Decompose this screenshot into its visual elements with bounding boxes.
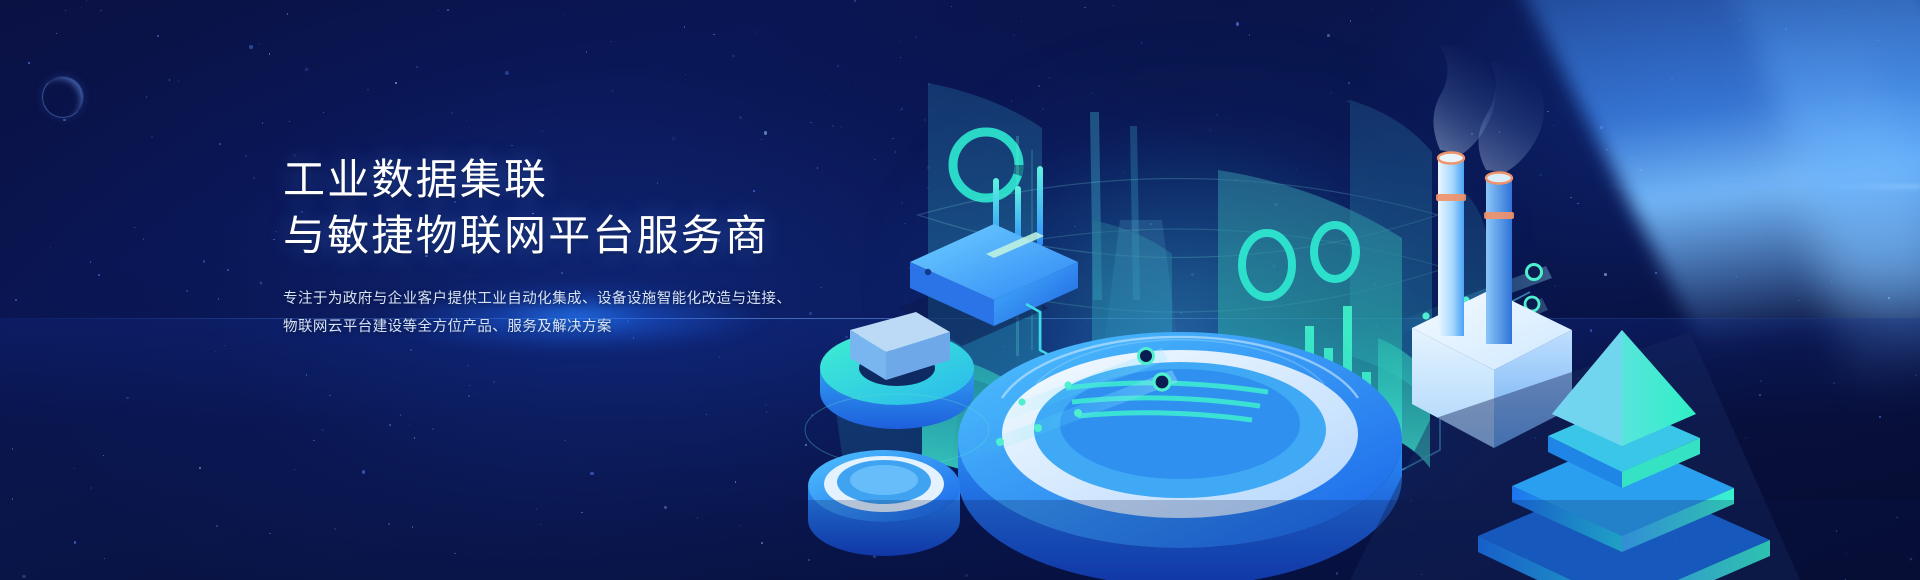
star-particle (367, 89, 369, 91)
star-particle (467, 365, 469, 367)
smokestack-right (1486, 178, 1512, 344)
hero-subtitle: 专注于为政府与企业客户提供工业自动化集成、设备设施智能化改造与连接、 物联网云平… (283, 286, 843, 342)
headline-line-2: 与敏捷物联网平台服务商 (283, 208, 843, 264)
star-particle (511, 145, 513, 147)
star-particle (672, 137, 676, 141)
star-particle (289, 121, 291, 123)
star-particle (146, 96, 148, 98)
star-particle (400, 414, 402, 416)
star-particle (697, 517, 699, 519)
star-particle (469, 385, 471, 387)
star-particle (28, 62, 30, 64)
star-particle (65, 10, 67, 12)
star-particle (275, 231, 277, 233)
star-particle (586, 51, 588, 53)
star-particle (151, 136, 154, 139)
star-particle (310, 2, 312, 4)
star-particle (389, 424, 391, 426)
star-particle (178, 80, 180, 82)
star-particle (157, 35, 159, 37)
star-particle (713, 34, 715, 36)
star-particle (249, 45, 253, 49)
star-particle (169, 79, 171, 81)
star-particle (259, 43, 261, 45)
star-particle (56, 33, 58, 35)
star-particle (134, 227, 136, 229)
star-particle (63, 119, 66, 122)
star-particle (766, 411, 768, 413)
star-particle (395, 82, 397, 84)
headline-line-1: 工业数据集联 (283, 152, 843, 208)
small-disc-core (850, 465, 918, 495)
star-particle (581, 512, 583, 514)
star-particle (81, 7, 83, 9)
star-particle (739, 116, 742, 119)
star-particle (323, 112, 325, 114)
star-particle (15, 299, 17, 301)
subtitle-line-1: 专注于为政府与企业客户提供工业自动化集成、设备设施智能化改造与连接、 (283, 291, 791, 307)
star-particle (74, 541, 77, 544)
star-particle (410, 349, 412, 351)
stack-band (1484, 212, 1514, 219)
star-particle (215, 351, 217, 353)
star-particle (611, 41, 613, 43)
star-particle (685, 74, 687, 76)
star-particle (765, 404, 767, 406)
star-particle (412, 526, 414, 528)
star-particle (735, 481, 737, 483)
star-particle (269, 533, 271, 535)
star-particle (103, 455, 105, 457)
star-particle (203, 260, 206, 263)
star-particle (126, 397, 129, 400)
smokestack-left (1438, 158, 1464, 336)
star-particle (216, 525, 218, 527)
hero-illustration (790, 0, 1920, 580)
star-particle (245, 155, 247, 157)
star-particle (260, 282, 263, 285)
star-particle (87, 339, 89, 341)
star-particle (536, 508, 538, 510)
star-particle (739, 525, 741, 527)
hero-text-block: 工业数据集联 与敏捷物联网平台服务商 专注于为政府与企业客户提供工业自动化集成、… (283, 152, 843, 341)
star-particle (362, 470, 366, 474)
stack-band (1436, 194, 1466, 201)
star-particle (761, 542, 763, 544)
star-particle (719, 356, 721, 358)
star-particle (321, 429, 324, 432)
star-particle (564, 440, 566, 442)
star-particle (104, 558, 106, 560)
star-particle (227, 269, 229, 271)
star-particle (542, 130, 544, 132)
hero-banner: 工业数据集联 与敏捷物联网平台服务商 专注于为政府与企业客户提供工业自动化集成、… (0, 0, 1920, 580)
star-particle (306, 374, 308, 376)
star-particle (64, 196, 66, 198)
star-particle (468, 395, 470, 397)
crescent-moon-icon (42, 76, 84, 118)
star-particle (262, 122, 264, 124)
star-particle (454, 553, 456, 555)
star-particle (414, 437, 416, 439)
star-particle (505, 71, 509, 75)
star-particle (186, 290, 188, 292)
star-particle (706, 414, 708, 416)
subtitle-line-2: 物联网云平台建设等全方位产品、服务及解决方案 (283, 319, 612, 335)
star-particle (334, 528, 336, 530)
star-particle (432, 428, 434, 430)
star-particle (269, 53, 271, 55)
star-particle (563, 14, 565, 16)
star-particle (90, 261, 92, 263)
star-particle (590, 472, 594, 476)
star-particle (287, 13, 289, 15)
star-particle (218, 298, 220, 300)
star-particle (438, 10, 440, 12)
star-particle (86, 0, 88, 2)
star-particle (90, 487, 92, 489)
star-particle (664, 506, 668, 510)
star-particle (540, 524, 542, 526)
star-particle (611, 90, 614, 93)
star-particle (684, 26, 686, 28)
star-particle (253, 177, 255, 179)
star-particle (100, 10, 102, 12)
page-title: 工业数据集联 与敏捷物联网平台服务商 (283, 152, 843, 264)
star-particle (447, 9, 449, 11)
star-particle (219, 143, 221, 145)
star-particle (305, 68, 309, 72)
star-particle (329, 395, 331, 397)
star-particle (388, 523, 390, 525)
star-particle (22, 575, 26, 579)
star-particle (409, 424, 411, 426)
star-particle (755, 33, 757, 35)
star-particle (98, 274, 100, 276)
star-particle (313, 440, 315, 442)
star-particle (732, 55, 735, 58)
star-particle (50, 247, 52, 249)
star-particle (199, 467, 201, 469)
star-particle (416, 66, 418, 68)
star-particle (73, 468, 75, 470)
star-particle (466, 120, 468, 122)
router-port (925, 269, 931, 275)
star-particle (273, 239, 275, 241)
star-particle (12, 498, 14, 500)
star-particle (224, 345, 226, 347)
star-particle (764, 131, 768, 135)
star-particle (12, 448, 14, 450)
star-particle (294, 469, 296, 471)
star-particle (143, 238, 145, 240)
star-particle (761, 139, 763, 141)
star-particle (451, 112, 453, 114)
star-particle (495, 405, 497, 407)
star-particle (493, 381, 495, 383)
